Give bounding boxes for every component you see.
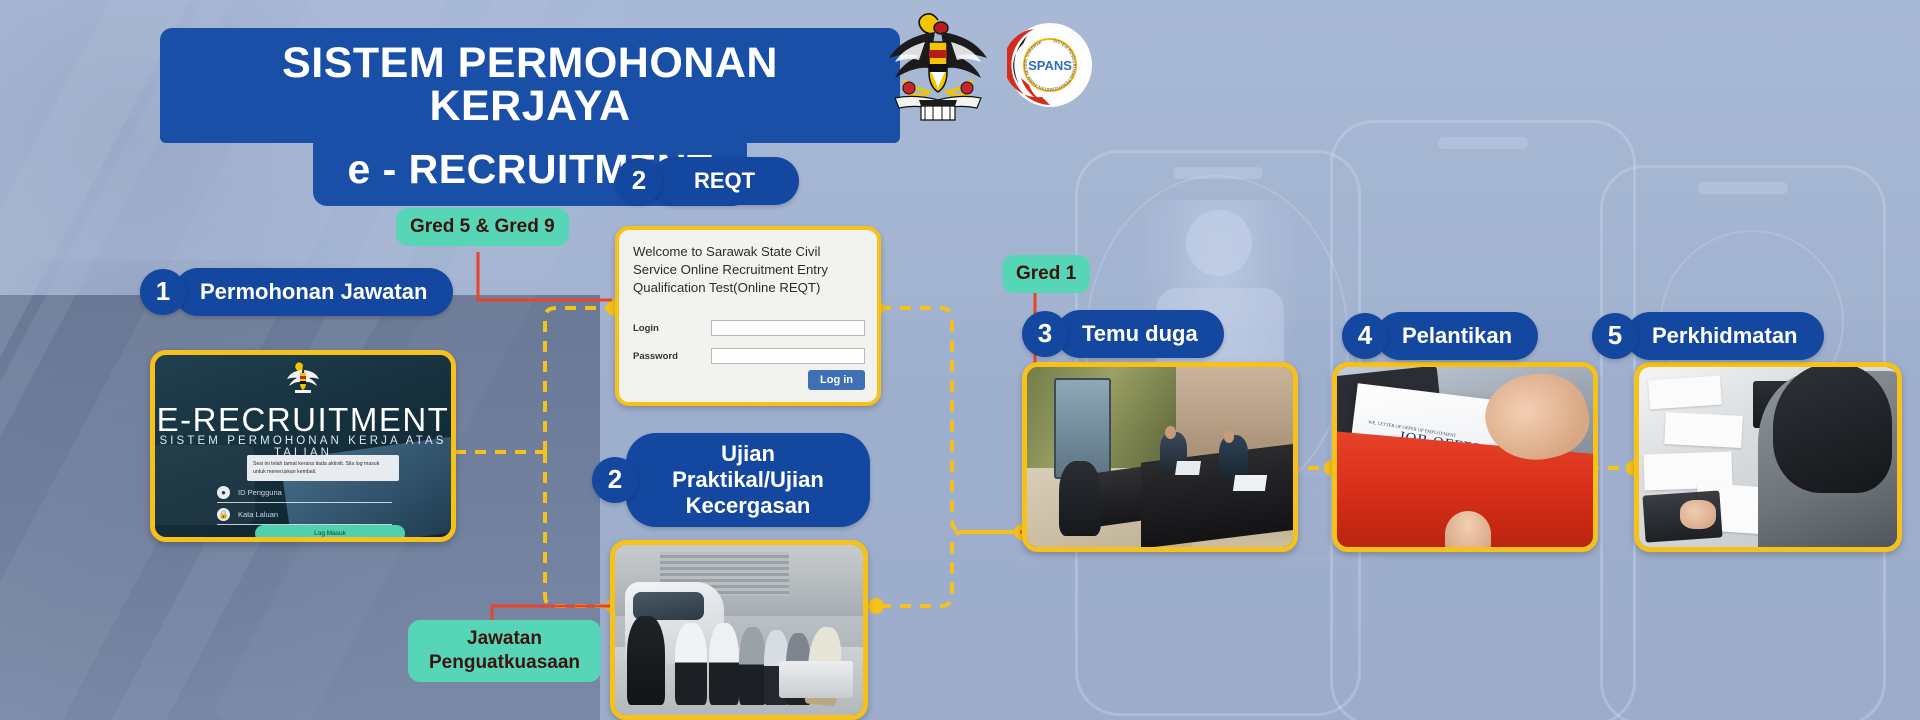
step-badge-2-practical[interactable]: 2 Ujian Praktikal/Ujian Kecergasan [592, 433, 870, 527]
spans-logo-icon: SPANS SISTEM PENGURUSAN PERKHIDMATAN AWA… [1007, 22, 1093, 108]
erecruitment-user-label: ID Pengguna [238, 488, 282, 497]
step-label-1: Permohonan Jawatan [174, 268, 453, 316]
reqt-password-row: Password [633, 348, 865, 364]
tag-gred-5-and-9: Gred 5 & Gred 9 [396, 208, 569, 246]
step-number-2-reqt: 2 [616, 158, 662, 204]
interview-photo-card[interactable] [1022, 362, 1298, 552]
step-number-3: 3 [1022, 311, 1068, 357]
service-photo-card[interactable] [1634, 362, 1902, 552]
erecruitment-password-field[interactable]: 🔒 Kata Laluan [217, 508, 392, 525]
erecruitment-login-button[interactable]: Log Masuk [255, 525, 405, 537]
reqt-login-input[interactable] [711, 320, 865, 336]
reqt-login-button[interactable]: Log in [808, 370, 865, 390]
infographic-canvas: SISTEM PERMOHONAN KERJAYA e - RECRUITMEN… [0, 0, 1920, 720]
user-icon: ● [217, 486, 230, 499]
step-badge-2-reqt[interactable]: 2 REQT [616, 157, 799, 205]
step-label-4: Pelantikan [1376, 312, 1538, 360]
reqt-password-input[interactable] [711, 348, 865, 364]
sarawak-coat-of-arms-icon [885, 6, 991, 124]
practical-test-photo-card[interactable] [610, 540, 868, 720]
tag-gred-1: Gred 1 [1002, 255, 1090, 293]
reqt-login-label: Login [633, 323, 711, 334]
erecruitment-user-field[interactable]: ● ID Pengguna [217, 486, 392, 503]
step-number-4: 4 [1342, 313, 1388, 359]
erecruitment-session-message: Sesi ini telah tamat kerana tiada aktivi… [247, 455, 399, 481]
step-label-2-reqt: REQT [650, 157, 799, 205]
step-badge-3[interactable]: 3 Temu duga [1022, 310, 1224, 358]
step-label-2-practical: Ujian Praktikal/Ujian Kecergasan [626, 433, 870, 527]
reqt-welcome-text: Welcome to Sarawak State Civil Service O… [633, 243, 865, 296]
title-line-1: SISTEM PERMOHONAN KERJAYA [160, 28, 900, 143]
step-badge-5[interactable]: 5 Perkhidmatan [1592, 312, 1824, 360]
reqt-password-label: Password [633, 351, 711, 362]
step-badge-1[interactable]: 1 Permohonan Jawatan [140, 268, 453, 316]
logo-group: SPANS SISTEM PENGURUSAN PERKHIDMATAN AWA… [885, 6, 1093, 124]
reqt-login-panel[interactable]: Welcome to Sarawak State Civil Service O… [615, 226, 881, 406]
reqt-login-row: Login [633, 320, 865, 336]
step-label-5: Perkhidmatan [1626, 312, 1824, 360]
interview-panel-member-2 [1219, 435, 1248, 478]
job-offer-photo-card[interactable]: WE, LETTER OF OFFER OF EMPLOYMENT JOB OF… [1332, 362, 1598, 552]
svg-text:SPANS: SPANS [1028, 58, 1072, 73]
erecruitment-crest-icon [286, 361, 320, 401]
erecruitment-screenshot-card[interactable]: E-RECRUITMENT SISTEM PERMOHONAN KERJA AT… [150, 350, 456, 542]
step-label-3: Temu duga [1056, 310, 1224, 358]
tag-jawatan-penguatkuasaan: Jawatan Penguatkuasaan [408, 620, 601, 682]
step-number-1: 1 [140, 269, 186, 315]
erecruitment-password-label: Kata Laluan [238, 510, 278, 519]
step-number-2-practical: 2 [592, 457, 638, 503]
step-badge-4[interactable]: 4 Pelantikan [1342, 312, 1538, 360]
lock-icon: 🔒 [217, 508, 230, 521]
erecruitment-title: E-RECRUITMENT [155, 401, 451, 439]
interview-candidate [1059, 461, 1102, 537]
step-number-5: 5 [1592, 313, 1638, 359]
